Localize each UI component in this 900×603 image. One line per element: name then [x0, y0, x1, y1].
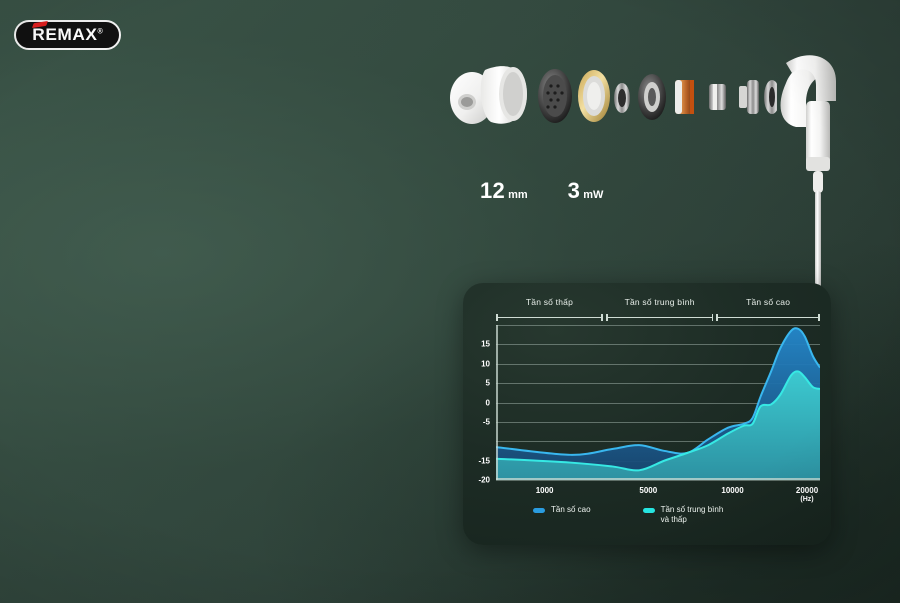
y-tick-label: 15: [481, 340, 490, 349]
y-tick-label: -5: [483, 417, 490, 426]
spec-power-unit: mW: [583, 189, 603, 201]
chart-x-axis: [496, 478, 820, 480]
part-pole-piece: [739, 80, 759, 114]
band-mid-rule: [606, 314, 713, 321]
spec-labels: 12 mm 3 mW: [480, 178, 603, 204]
legend-swatch-midlow: [643, 508, 655, 513]
band-mid: Tần số trung bình: [606, 297, 713, 323]
band-low-rule: [496, 314, 603, 321]
remax-logo: REMAX®: [14, 20, 121, 50]
part-gold-ring-diaphragm: [578, 70, 610, 122]
part-acoustic-mesh: [538, 69, 572, 123]
y-tick-label: -20: [478, 476, 490, 485]
product-banner: REMAX®: [0, 0, 900, 603]
spec-driver-size-unit: mm: [508, 189, 528, 201]
chart-y-axis: [496, 325, 498, 480]
x-tick-label: 5000: [639, 486, 657, 495]
remax-wordmark: REMAX: [32, 25, 97, 44]
band-high-label: Tần số cao: [716, 297, 820, 308]
y-tick-label: -15: [478, 456, 490, 465]
chart-inner: Tần số thấp Tần số trung bình Tần số cao: [463, 283, 831, 545]
earphone-svg: [770, 45, 880, 315]
y-tick-label: 0: [486, 398, 490, 407]
legend-item-high: Tần số cao: [533, 505, 591, 525]
legend-label-high: Tần số cao: [551, 505, 591, 515]
exploded-parts-svg: [447, 48, 777, 138]
gridline: [496, 480, 820, 481]
y-tick-label: 5: [486, 379, 490, 388]
exploded-parts-row: [447, 48, 777, 138]
band-high: Tần số cao: [716, 297, 820, 323]
chart-curves: [496, 325, 820, 480]
spec-driver-size-value: 12: [480, 178, 505, 204]
band-mid-label: Tần số trung bình: [606, 297, 713, 308]
earbud-stem: [806, 101, 830, 165]
spec-power: 3 mW: [568, 178, 604, 204]
part-copper-magnet-coil: [675, 80, 694, 114]
band-high-rule: [716, 314, 820, 321]
cable-strain-relief: [813, 171, 823, 193]
earphone-product-image: [770, 45, 880, 315]
x-tick-label: 20000: [796, 486, 818, 495]
legend-item-midlow: Tần số trung bình và thấp: [643, 505, 724, 525]
part-small-spacer-ring: [614, 83, 630, 113]
registered-mark: ®: [97, 28, 103, 35]
chart-legend: Tần số cao Tần số trung bình và thấp: [533, 505, 823, 525]
spec-driver-size: 12 mm: [480, 178, 528, 204]
frequency-response-chart-panel: Tần số thấp Tần số trung bình Tần số cao: [463, 283, 831, 545]
frequency-band-labels: Tần số thấp Tần số trung bình Tần số cao: [496, 297, 820, 323]
band-low: Tần số thấp: [496, 297, 603, 323]
y-tick-label: 10: [481, 359, 490, 368]
earbud-collar: [806, 157, 830, 171]
chart-x-unit: (Hz): [800, 496, 813, 503]
x-tick-label: 10000: [721, 486, 743, 495]
x-tick-label: 1000: [536, 486, 554, 495]
legend-label-midlow: Tần số trung bình và thấp: [661, 505, 724, 525]
band-low-label: Tần số thấp: [496, 297, 603, 308]
chart-plot-area: 151050-5-15-20 100050001000020000 (Hz): [496, 325, 820, 480]
part-housing-shell: [481, 66, 527, 124]
spec-power-value: 3: [568, 178, 581, 204]
part-voice-coil-ring: [638, 74, 666, 120]
part-magnet-ring: [709, 84, 726, 110]
remax-logo-text: REMAX®: [32, 25, 103, 45]
legend-swatch-high: [533, 508, 545, 513]
